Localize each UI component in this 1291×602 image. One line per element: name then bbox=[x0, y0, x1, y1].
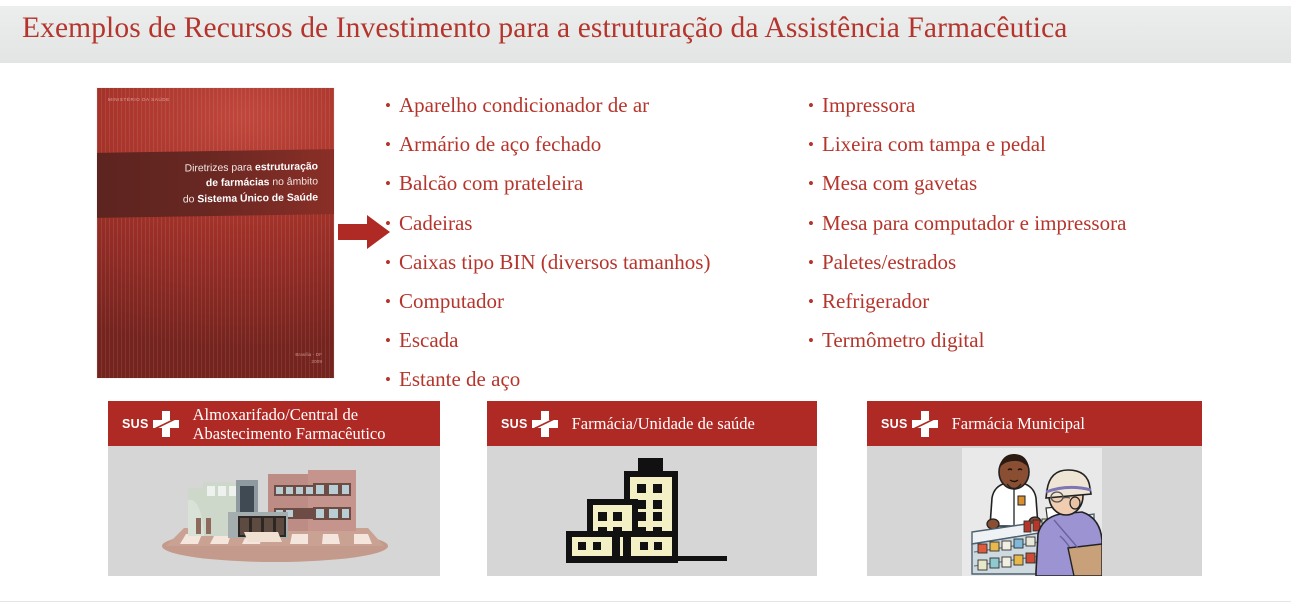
sus-logo-text: SUS bbox=[122, 417, 149, 431]
resource-item: •Cadeiras bbox=[385, 204, 785, 243]
book-title-l3a: do bbox=[183, 194, 197, 205]
book-footer-place: Brasília - DF bbox=[295, 352, 322, 359]
resource-item-label: Estante de aço bbox=[399, 367, 520, 391]
resource-item-label: Balcão com prateleira bbox=[399, 171, 583, 195]
card-farmacia-municipal: SUS Farmácia Municipal bbox=[867, 401, 1202, 576]
warehouse-building-illustration bbox=[158, 464, 393, 562]
resource-item-label: Impressora bbox=[822, 93, 915, 117]
resource-list-column-2: •Impressora•Lixeira com tampa e pedal•Me… bbox=[808, 86, 1208, 360]
bullet-icon: • bbox=[808, 243, 822, 282]
bullet-icon: • bbox=[808, 282, 822, 321]
bullet-icon: • bbox=[808, 86, 822, 125]
resource-item: •Computador bbox=[385, 282, 785, 321]
resource-item-label: Computador bbox=[399, 289, 504, 313]
resource-item-label: Mesa para computador e impressora bbox=[822, 211, 1126, 235]
resource-item-label: Cadeiras bbox=[399, 211, 472, 235]
resource-item-label: Aparelho condicionador de ar bbox=[399, 93, 649, 117]
book-title-l1a: Diretrizes para bbox=[185, 162, 255, 174]
book-title-l1b: estruturação bbox=[255, 161, 318, 173]
card-header: SUS Farmácia Municipal bbox=[867, 401, 1202, 446]
card-image-warehouse bbox=[108, 446, 440, 576]
sus-logo: SUS bbox=[501, 409, 560, 439]
book-title-l2b: no âmbito bbox=[272, 177, 318, 189]
resource-item: •Armário de aço fechado bbox=[385, 125, 785, 164]
pharmacist-and-customer-illustration bbox=[962, 448, 1102, 576]
resource-item: •Refrigerador bbox=[808, 282, 1208, 321]
bullet-icon: • bbox=[808, 125, 822, 164]
sus-logo-text: SUS bbox=[881, 417, 908, 431]
bullet-icon: • bbox=[385, 360, 399, 399]
card-title: Farmácia/Unidade de saúde bbox=[572, 414, 755, 433]
resource-list-column-1: •Aparelho condicionador de ar•Armário de… bbox=[385, 86, 785, 400]
resource-item-label: Lixeira com tampa e pedal bbox=[822, 132, 1046, 156]
bullet-icon: • bbox=[808, 321, 822, 360]
resource-item: •Paletes/estrados bbox=[808, 243, 1208, 282]
bullet-icon: • bbox=[385, 86, 399, 125]
bullet-icon: • bbox=[385, 243, 399, 282]
resource-item: •Aparelho condicionador de ar bbox=[385, 86, 785, 125]
page-title: Exemplos de Recursos de Investimento par… bbox=[22, 7, 1272, 49]
book-cover-image: MINISTÉRIO DA SAÚDE Diretrizes para estr… bbox=[97, 88, 334, 378]
card-image-hospital bbox=[487, 446, 817, 576]
sus-cross-icon bbox=[910, 409, 940, 439]
right-arrow-icon bbox=[338, 213, 390, 251]
card-almoxarifado: SUS Almoxarifado/Central de Abasteciment… bbox=[108, 401, 440, 576]
book-title-text: Diretrizes para estruturação de farmácia… bbox=[97, 152, 334, 216]
sus-cross-icon bbox=[151, 409, 181, 439]
bullet-icon: • bbox=[808, 164, 822, 203]
bullet-icon: • bbox=[385, 321, 399, 360]
resource-item: •Lixeira com tampa e pedal bbox=[808, 125, 1208, 164]
bullet-icon: • bbox=[385, 164, 399, 203]
resource-item-label: Paletes/estrados bbox=[822, 250, 956, 274]
resource-item-label: Mesa com gavetas bbox=[822, 171, 977, 195]
bullet-icon: • bbox=[385, 282, 399, 321]
card-farmacia-unidade: SUS Farmácia/Unidade de saúde bbox=[487, 401, 817, 576]
sus-logo: SUS bbox=[881, 409, 940, 439]
card-image-pharmacy bbox=[867, 446, 1202, 576]
bullet-icon: • bbox=[385, 204, 399, 243]
book-footer: Brasília - DF 2009 bbox=[295, 352, 322, 366]
resource-item: •Impressora bbox=[808, 86, 1208, 125]
resource-item: •Estante de aço bbox=[385, 360, 785, 399]
resource-item: •Caixas tipo BIN (diversos tamanhos) bbox=[385, 243, 785, 282]
card-header: SUS Almoxarifado/Central de Abasteciment… bbox=[108, 401, 440, 446]
book-title-l2a: de farmácias bbox=[206, 177, 272, 189]
resource-item: •Balcão com prateleira bbox=[385, 164, 785, 203]
card-title: Almoxarifado/Central de Abastecimento Fa… bbox=[193, 405, 386, 443]
book-footer-year: 2009 bbox=[295, 359, 322, 366]
book-ministry-label: MINISTÉRIO DA SAÚDE bbox=[108, 97, 170, 102]
card-title: Farmácia Municipal bbox=[952, 414, 1085, 433]
resource-item-label: Armário de aço fechado bbox=[399, 132, 601, 156]
sus-logo: SUS bbox=[122, 409, 181, 439]
hospital-building-icon bbox=[565, 454, 735, 570]
resource-item-label: Caixas tipo BIN (diversos tamanhos) bbox=[399, 250, 710, 274]
card-header: SUS Farmácia/Unidade de saúde bbox=[487, 401, 817, 446]
resource-item: •Mesa para computador e impressora bbox=[808, 204, 1208, 243]
resource-item-label: Escada bbox=[399, 328, 458, 352]
resource-item: •Termômetro digital bbox=[808, 321, 1208, 360]
resource-item-label: Termômetro digital bbox=[822, 328, 984, 352]
sus-logo-text: SUS bbox=[501, 417, 528, 431]
bullet-icon: • bbox=[385, 125, 399, 164]
resource-item: •Escada bbox=[385, 321, 785, 360]
book-title-l3b: Sistema Único de Saúde bbox=[197, 192, 318, 205]
resource-item-label: Refrigerador bbox=[822, 289, 929, 313]
resource-item: •Mesa com gavetas bbox=[808, 164, 1208, 203]
bullet-icon: • bbox=[808, 204, 822, 243]
sus-cross-icon bbox=[530, 409, 560, 439]
